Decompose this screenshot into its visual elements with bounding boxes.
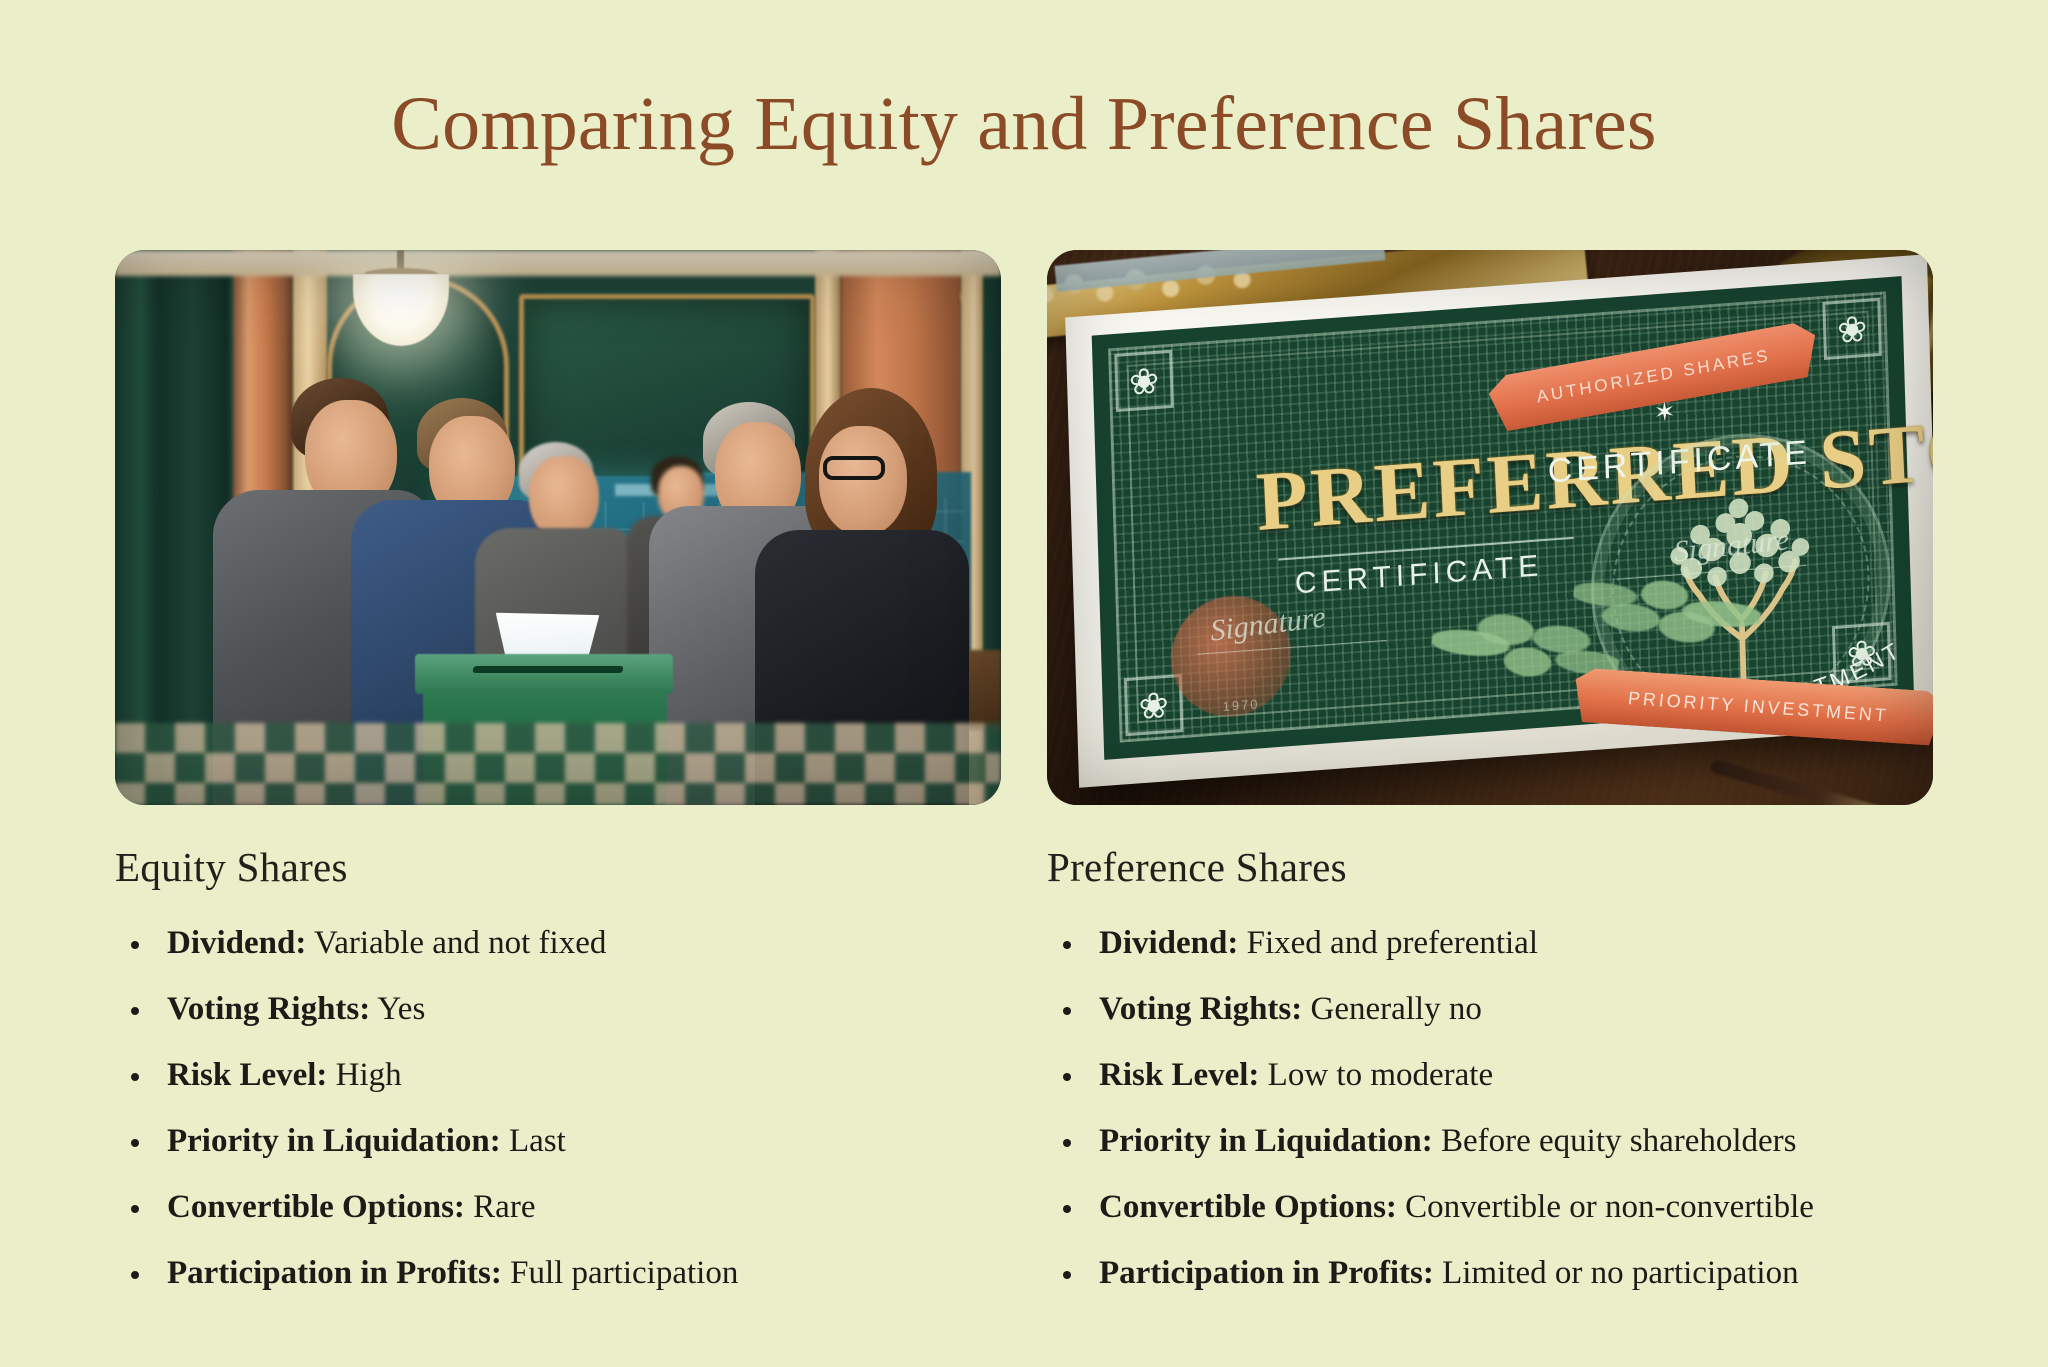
list-item: Dividend: Fixed and preferential — [1047, 920, 1933, 966]
eyeglasses-icon — [823, 456, 885, 480]
comparison-columns: Equity Shares Dividend: Variable and not… — [0, 250, 2048, 1310]
bullet-value: Full participation — [510, 1255, 738, 1291]
bullet-value: Convertible or non-convertible — [1405, 1189, 1814, 1225]
bullet-label: Participation in Profits: — [1099, 1255, 1434, 1291]
bullet-label: Convertible Options: — [1099, 1189, 1397, 1225]
stock-certificate: ❀ ❀ ❀ ❀ AUTHORIZED SHARES ✶ PREFERRED ST… — [1065, 254, 1933, 788]
bullet-label: Dividend: — [1099, 925, 1238, 961]
bullet-list-preference: Dividend: Fixed and preferential Voting … — [1047, 920, 1933, 1316]
bullet-label: Priority in Liquidation: — [167, 1123, 501, 1159]
wall-panel-far-left — [115, 250, 157, 805]
list-item: Priority in Liquidation: Last — [115, 1118, 1001, 1164]
column-equity-shares: Equity Shares Dividend: Variable and not… — [115, 250, 1001, 1310]
bullet-label: Risk Level: — [1099, 1057, 1259, 1093]
list-item: Priority in Liquidation: Before equity s… — [1047, 1118, 1933, 1164]
bullet-label: Dividend: — [167, 925, 306, 961]
bullet-value: Low to moderate — [1268, 1057, 1493, 1093]
list-item: Risk Level: Low to moderate — [1047, 1052, 1933, 1098]
rosette-icon: ❀ — [1124, 674, 1184, 736]
list-item: Voting Rights: Generally no — [1047, 986, 1933, 1032]
list-item: Convertible Options: Rare — [115, 1184, 1001, 1230]
bullet-value: Limited or no participation — [1442, 1255, 1799, 1291]
preferred-stock-certificate-photo: ❀ ❀ ❀ ❀ AUTHORIZED SHARES ✶ PREFERRED ST… — [1047, 250, 1933, 805]
certificate-printed-area: ❀ ❀ ❀ ❀ AUTHORIZED SHARES ✶ PREFERRED ST… — [1092, 276, 1914, 760]
list-item: Dividend: Variable and not fixed — [115, 920, 1001, 966]
bullet-value: Yes — [377, 991, 425, 1027]
shareholder-voting-photo — [115, 250, 1001, 805]
bullet-label: Voting Rights: — [1099, 991, 1302, 1027]
bullet-value: High — [336, 1057, 402, 1093]
rosette-icon: ❀ — [1114, 350, 1174, 412]
column-preference-shares: ❀ ❀ ❀ ❀ AUTHORIZED SHARES ✶ PREFERRED ST… — [1047, 250, 1933, 1310]
column-heading-equity: Equity Shares — [115, 843, 348, 891]
list-item: Voting Rights: Yes — [115, 986, 1001, 1032]
bullet-label: Voting Rights: — [167, 991, 370, 1027]
bullet-value: Generally no — [1311, 991, 1482, 1027]
bullet-value: Fixed and preferential — [1247, 925, 1538, 961]
ballot-box-slot — [472, 666, 623, 673]
bullet-value: Variable and not fixed — [314, 925, 606, 961]
ceiling-cornice — [115, 250, 1001, 276]
bullet-label: Convertible Options: — [167, 1189, 465, 1225]
column-heading-preference: Preference Shares — [1047, 843, 1347, 891]
slide-canvas: Comparing Equity and Preference Shares — [0, 0, 2048, 1367]
bullet-value: Before equity shareholders — [1441, 1123, 1797, 1159]
mosaic-floor — [115, 723, 1001, 805]
bullet-label: Priority in Liquidation: — [1099, 1123, 1433, 1159]
list-item: Convertible Options: Convertible or non-… — [1047, 1184, 1933, 1230]
page-title: Comparing Equity and Preference Shares — [0, 78, 2048, 170]
bullet-value: Rare — [473, 1189, 535, 1225]
list-item: Risk Level: High — [115, 1052, 1001, 1098]
rosette-icon: ❀ — [1822, 298, 1882, 360]
bullet-label: Participation in Profits: — [167, 1255, 502, 1291]
bullet-value: Last — [509, 1123, 566, 1159]
list-item: Participation in Profits: Limited or no … — [1047, 1250, 1933, 1296]
ballot-box-lid — [415, 654, 673, 694]
list-item: Participation in Profits: Full participa… — [115, 1250, 1001, 1296]
certificate-microtext: 1970 — [1222, 696, 1259, 714]
bullet-list-equity: Dividend: Variable and not fixed Voting … — [115, 920, 1001, 1316]
bullet-label: Risk Level: — [167, 1057, 327, 1093]
